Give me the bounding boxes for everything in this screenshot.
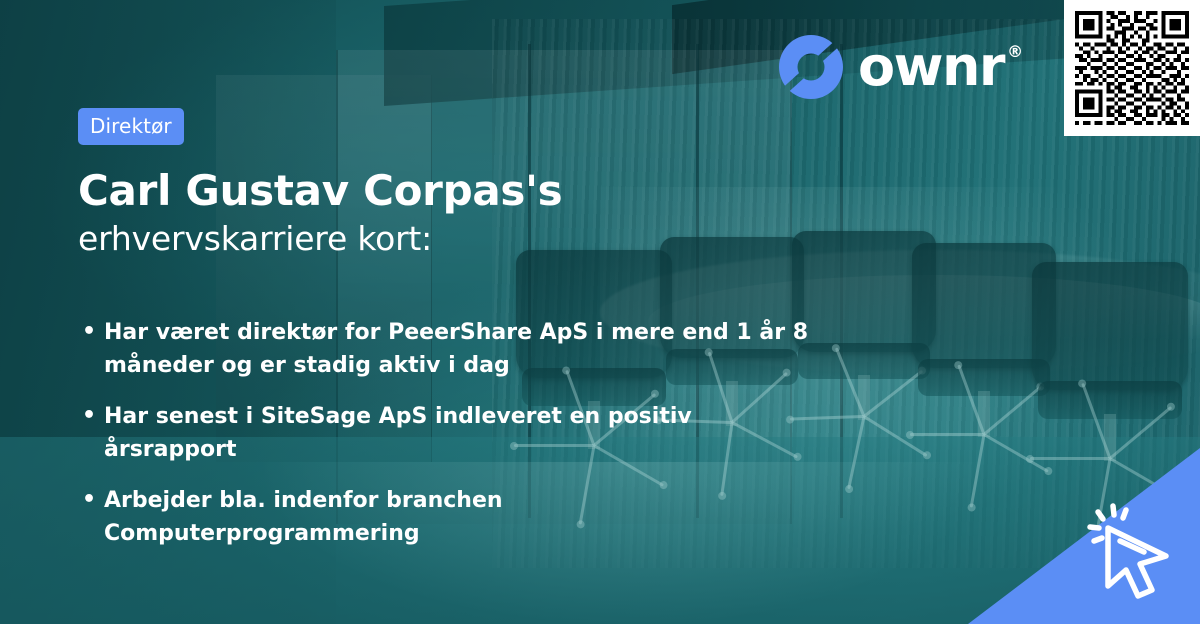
list-item: Har senest i SiteSage ApS indleveret en …	[78, 401, 820, 466]
career-highlights-list: Har været direktør for PeeerShare ApS i …	[78, 317, 908, 550]
person-name-heading: Carl Gustav Corpas's	[78, 167, 908, 214]
background-office-chair	[1032, 262, 1188, 499]
ownr-circle-mark	[778, 34, 844, 100]
registered-trademark-symbol: ®	[1007, 44, 1022, 60]
ownr-logo: ownr ®	[778, 33, 1022, 101]
click-cursor-icon	[1082, 498, 1186, 602]
business-career-card: ownr ® Direktør Carl Gustav Corpas's erh…	[0, 0, 1200, 624]
role-badge: Direktør	[78, 108, 184, 145]
list-item: Arbejder bla. indenfor branchen Computer…	[78, 485, 820, 550]
list-item: Har været direktør for PeeerShare ApS i …	[78, 317, 820, 382]
subheading: erhvervskarriere kort:	[78, 220, 908, 259]
card-content: Direktør Carl Gustav Corpas's erhvervska…	[78, 108, 908, 569]
qr-code[interactable]	[1075, 11, 1189, 125]
ownr-wordmark: ownr ®	[858, 40, 1022, 94]
qr-code-panel[interactable]	[1064, 0, 1200, 136]
wordmark-text: ownr	[858, 40, 1004, 94]
